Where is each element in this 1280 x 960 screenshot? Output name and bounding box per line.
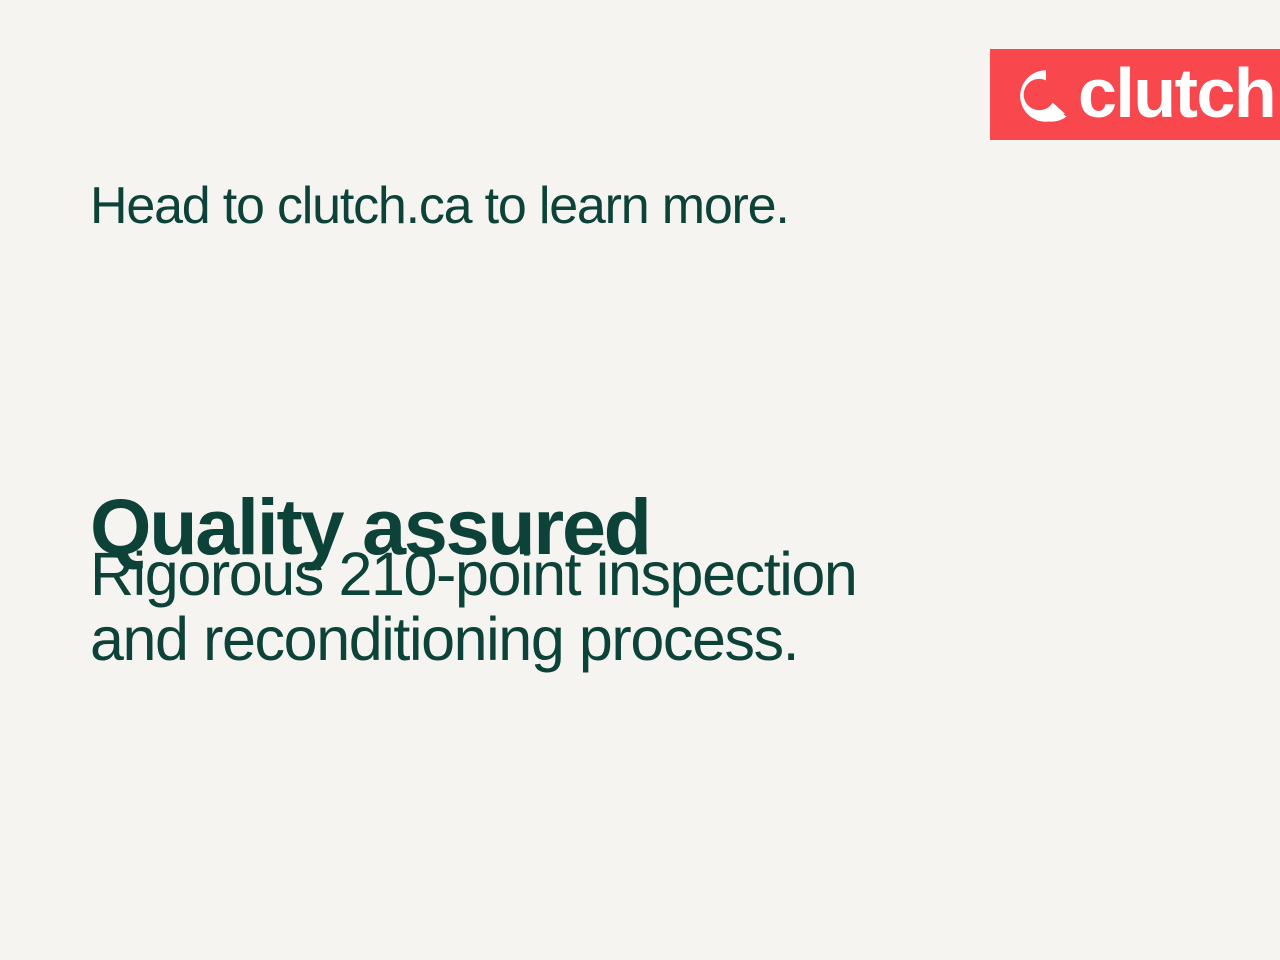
subcopy-block: Rigorous 210-point inspection and recond…	[90, 542, 856, 672]
subcopy-line-1: Rigorous 210-point inspection	[90, 542, 856, 607]
clutch-wordmark: clutch	[1078, 58, 1275, 128]
clutch-c-mark-icon	[1018, 68, 1074, 124]
clutch-logo-badge[interactable]: clutch	[990, 49, 1280, 140]
slide-canvas: clutch Head to clutch.ca to learn more. …	[0, 0, 1280, 960]
lead-text: Head to clutch.ca to learn more.	[90, 178, 789, 234]
subcopy-line-2: and reconditioning process.	[90, 607, 856, 672]
